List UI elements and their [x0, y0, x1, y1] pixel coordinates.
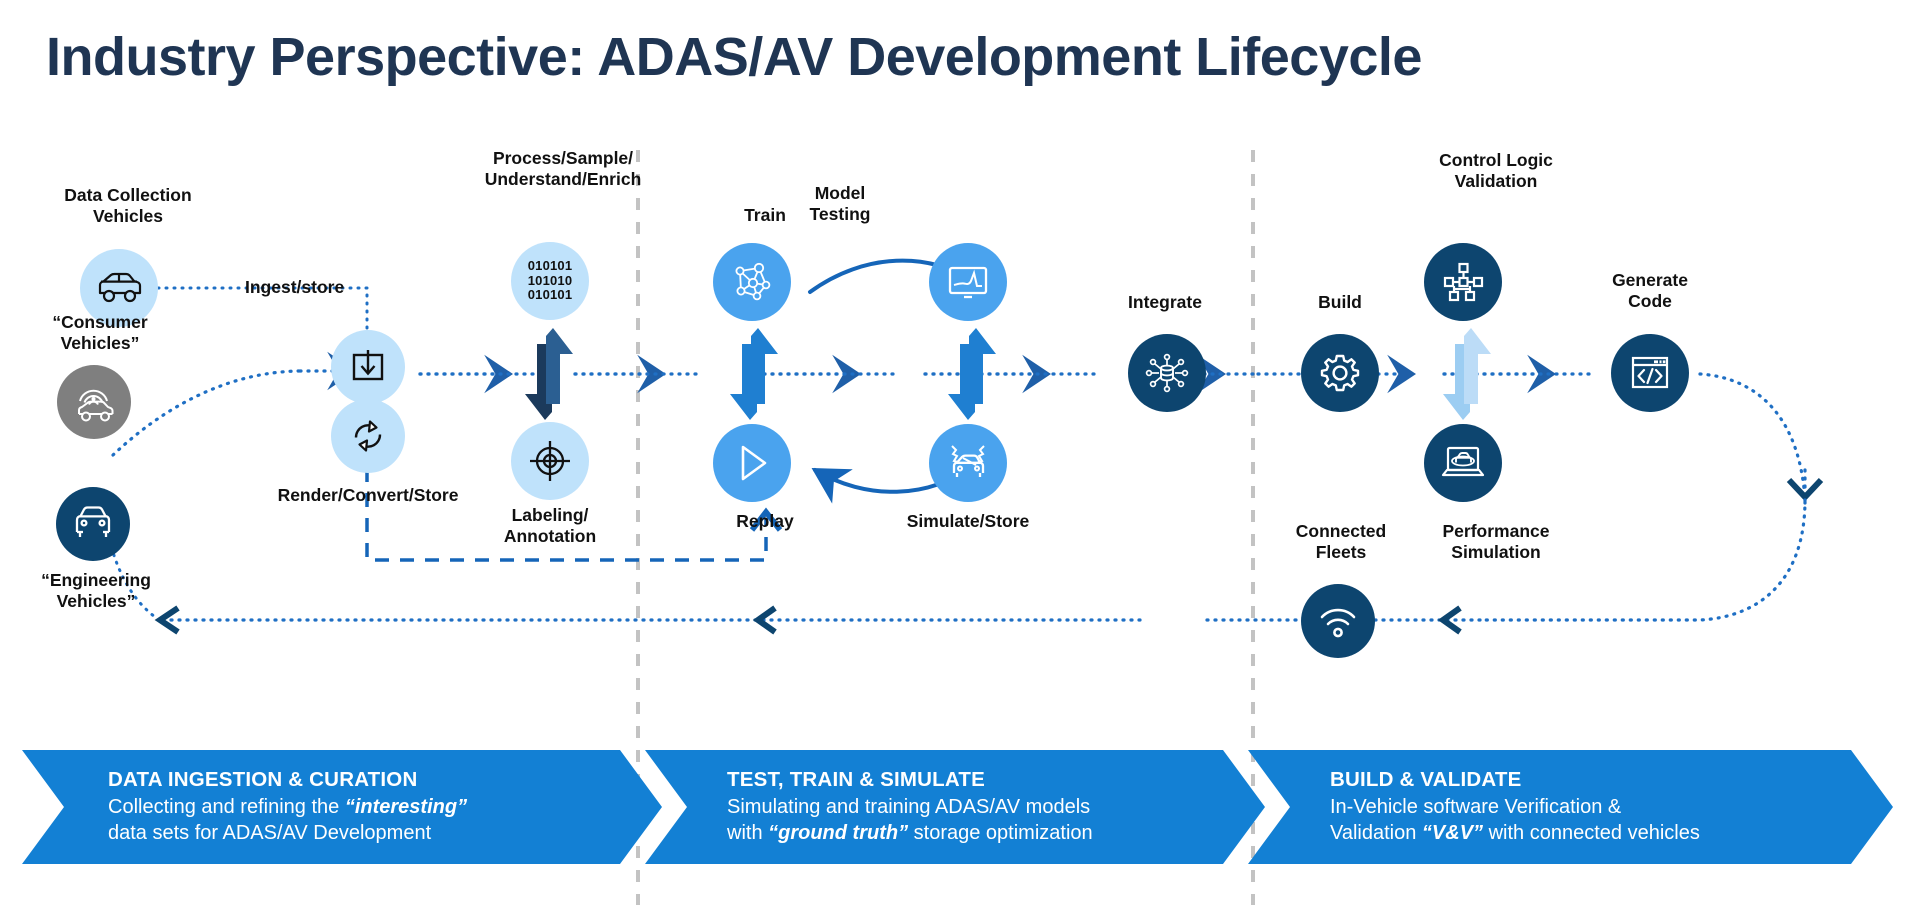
phase-body-2: Simulating and training ADAS/AV models w…: [727, 795, 1247, 846]
node-performance-simulation[interactable]: [1424, 424, 1502, 502]
phase-heading-1: DATA INGESTION & CURATION: [108, 768, 628, 792]
exchange-arrows-validation: [1443, 328, 1491, 420]
target-crosshair-icon: [527, 438, 573, 484]
phase3-line1-pre: In-Vehicle software Verification &: [1330, 796, 1621, 818]
node-connected-fleets[interactable]: [1301, 584, 1375, 658]
label-ingest-store: Ingest/store: [245, 277, 445, 298]
block-diagram-icon: [1441, 261, 1485, 303]
phase1-line1-pre: Collecting and refining the: [108, 796, 345, 818]
phase2-line1-pre: Simulating and training ADAS/AV models: [727, 796, 1090, 818]
diagram-canvas: Industry Perspective: ADAS/AV Developmen…: [0, 0, 1910, 914]
refresh-cycle-icon: [348, 416, 388, 456]
binary-data-icon: 010101 101010 010101: [528, 259, 573, 303]
page-title: Industry Perspective: ADAS/AV Developmen…: [46, 26, 1422, 88]
gear-icon: [1318, 351, 1362, 395]
phase-text-data-ingestion: DATA INGESTION & CURATION Collecting and…: [108, 768, 628, 846]
node-integrate[interactable]: [1128, 334, 1206, 412]
node-consumer-vehicles[interactable]: [57, 365, 131, 439]
phase2-line2-pre: with: [727, 822, 768, 844]
neural-network-icon: [729, 261, 775, 303]
node-control-logic-validation[interactable]: [1424, 243, 1502, 321]
label-generate-code: Generate Code: [1560, 270, 1740, 312]
label-integrate: Integrate: [1075, 292, 1255, 313]
monitor-waveform-icon: [945, 261, 991, 303]
front-car-icon: [71, 506, 115, 542]
network-database-icon: [1144, 350, 1190, 396]
phase-text-test-train: TEST, TRAIN & SIMULATE Simulating and tr…: [727, 768, 1247, 846]
download-box-icon: [349, 348, 387, 386]
laptop-car-sim-icon: [1439, 442, 1487, 484]
phase1-line1-em: “interesting”: [345, 796, 467, 818]
play-triangle-icon: [732, 442, 772, 484]
node-generate-code[interactable]: [1611, 334, 1689, 412]
label-data-collection-vehicles: Data Collection Vehicles: [18, 185, 238, 227]
exchange-arrows-train: [730, 328, 778, 420]
phase1-line2-pre: data sets for ADAS/AV Development: [108, 822, 431, 844]
label-engineering-vehicles: “Engineering Vehicles”: [0, 570, 192, 612]
code-window-icon: [1628, 353, 1672, 393]
node-train[interactable]: [713, 243, 791, 321]
phase-heading-3: BUILD & VALIDATE: [1330, 768, 1870, 792]
exchange-arrows-model: [948, 328, 996, 420]
label-replay: Replay: [690, 511, 840, 532]
connected-car-icon: [71, 381, 117, 423]
node-replay[interactable]: [713, 424, 791, 502]
label-consumer-vehicles: “Consumer Vehicles”: [5, 312, 195, 354]
phase3-line2-post: with connected vehicles: [1483, 822, 1700, 844]
crash-test-car-icon: [943, 441, 993, 485]
label-control-logic-validation: Control Logic Validation: [1381, 150, 1611, 192]
node-render-convert-store[interactable]: [331, 399, 405, 473]
label-render-convert-store: Render/Convert/Store: [208, 485, 528, 506]
node-engineering-vehicles[interactable]: [56, 487, 130, 561]
phase3-line2-pre: Validation: [1330, 822, 1422, 844]
phase-text-build-validate: BUILD & VALIDATE In-Vehicle software Ver…: [1330, 768, 1870, 846]
phase-body-1: Collecting and refining the “interesting…: [108, 795, 628, 846]
node-process-sample[interactable]: 010101 101010 010101: [511, 242, 589, 320]
node-labeling-annotation[interactable]: [511, 422, 589, 500]
label-labeling-annotation: Labeling/ Annotation: [440, 505, 660, 547]
label-performance-simulation: Performance Simulation: [1381, 521, 1611, 563]
node-simulate-store[interactable]: [929, 424, 1007, 502]
label-build: Build: [1280, 292, 1400, 313]
node-ingest-store[interactable]: [331, 330, 405, 404]
phase2-line2-em: “ground truth”: [768, 822, 908, 844]
exchange-arrows-process: [525, 328, 573, 420]
phase3-line2-em: “V&V”: [1422, 822, 1483, 844]
node-model-testing[interactable]: [929, 243, 1007, 321]
label-model-testing: Model Testing: [715, 183, 965, 225]
node-build[interactable]: [1301, 334, 1379, 412]
phase-heading-2: TEST, TRAIN & SIMULATE: [727, 768, 1247, 792]
wifi-signal-icon: [1317, 603, 1359, 639]
suv-car-icon: [96, 271, 142, 305]
label-process-sample: Process/Sample/ Understand/Enrich: [438, 148, 688, 190]
phase-body-3: In-Vehicle software Verification & Valid…: [1330, 795, 1870, 846]
phase2-line2-post: storage optimization: [908, 822, 1093, 844]
label-simulate-store: Simulate/Store: [858, 511, 1078, 532]
wire-consumer-to-ingest: [113, 371, 300, 455]
